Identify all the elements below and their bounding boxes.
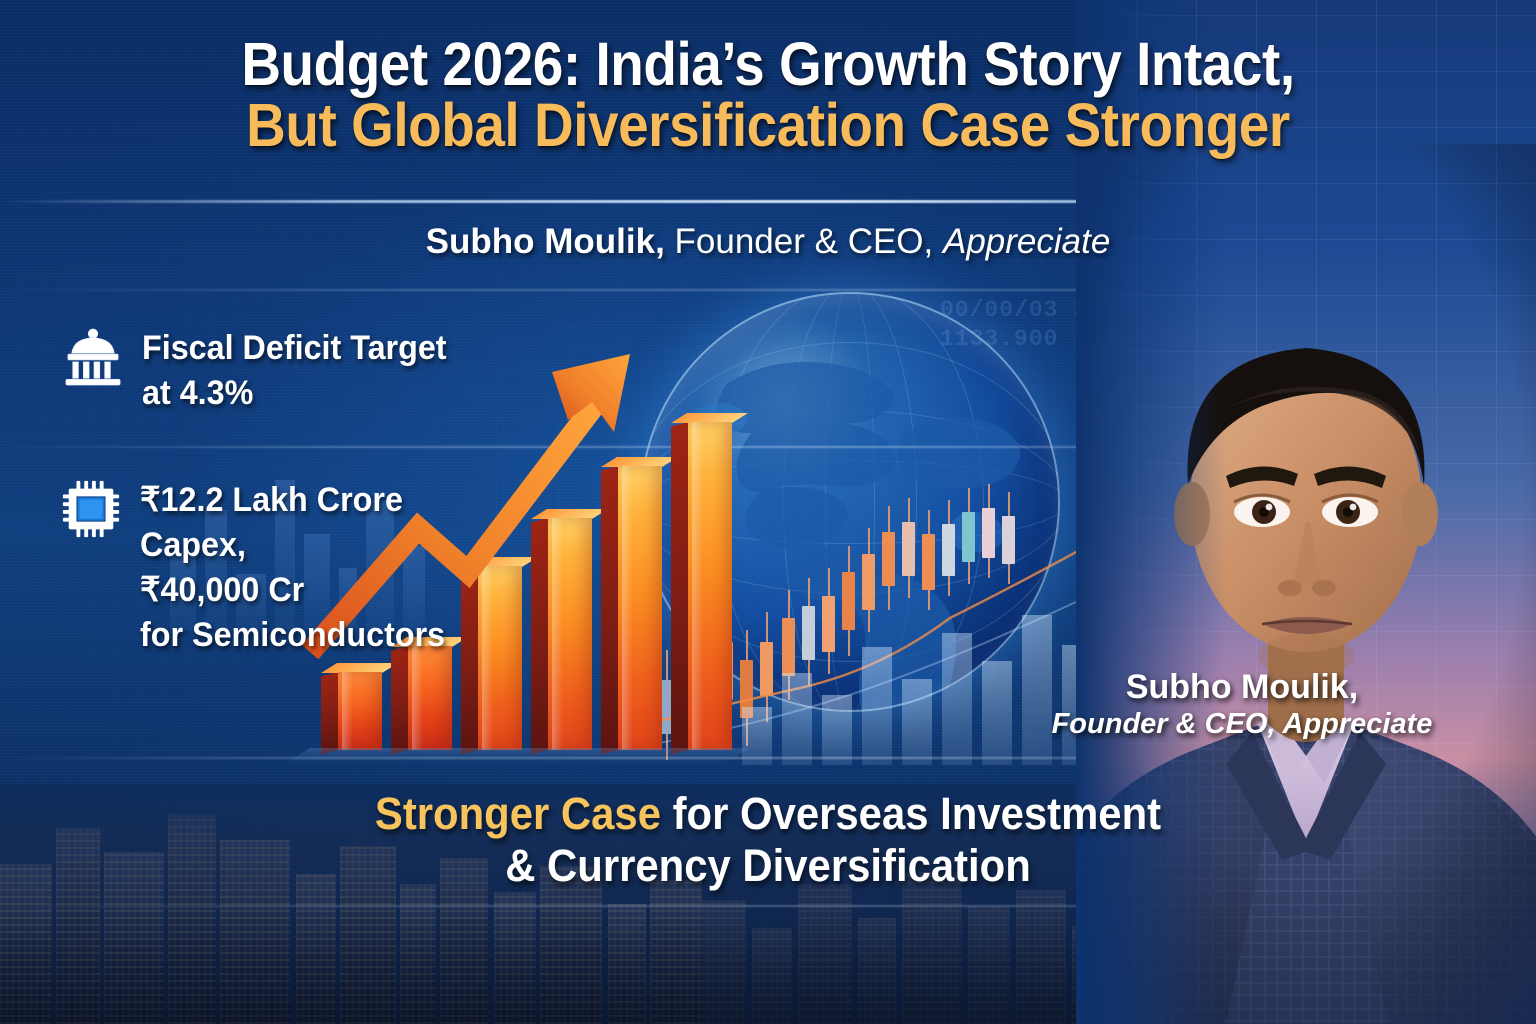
globe-continents (640, 292, 1060, 712)
stat-line: at 4.3% (142, 371, 447, 416)
bar-4 (548, 518, 592, 750)
candle (962, 488, 975, 584)
stat-line: for Semiconductors (140, 613, 445, 658)
speaker-name: Subho Moulik, (1032, 668, 1452, 707)
footer-rest: for Overseas Investment (661, 788, 1161, 839)
byline: Subho Moulik, Founder & CEO, Appreciate (0, 222, 1536, 262)
candle (982, 484, 995, 578)
bar-5 (618, 466, 662, 750)
candle (720, 612, 733, 724)
candle (1002, 492, 1015, 584)
footer-highlight: Stronger Case (375, 788, 661, 839)
bar-2 (408, 646, 452, 750)
page-title: Budget 2026: India’s Growth Story Intact… (0, 34, 1536, 156)
globe-sphere (640, 292, 1060, 712)
globe-meridians (640, 292, 1060, 712)
candle (882, 506, 895, 610)
candle (942, 500, 955, 596)
stat-line: Capex, (140, 523, 445, 568)
candle (842, 546, 855, 656)
ticker-line-1: 00/00/03 388 (940, 296, 1118, 325)
footer-message: Stronger Case for Overseas Investment & … (0, 788, 1536, 892)
candle (922, 510, 935, 610)
candle (782, 590, 795, 700)
stat-line: ₹12.2 Lakh Crore (140, 478, 445, 523)
bar-6 (688, 422, 732, 750)
headline-line-2: But Global Diversification Case Stronger (77, 95, 1459, 156)
stat-line: ₹40,000 Cr (140, 568, 445, 613)
headline-line-1: Budget 2026: India’s Growth Story Intact… (77, 34, 1459, 95)
speaker-role: Founder & CEO, Appreciate (1032, 707, 1452, 742)
globe-graphic (640, 292, 1060, 712)
stat-fiscal-deficit-text: Fiscal Deficit Target at 4.3% (142, 326, 447, 416)
speaker-namecard: Subho Moulik, Founder & CEO, Appreciate (1032, 668, 1452, 742)
candle (740, 630, 753, 746)
ticker-line-2: 1133.900 (940, 325, 1118, 354)
stat-capex-semiconductors: ₹12.2 Lakh Crore Capex, ₹40,000 Cr for S… (60, 478, 461, 658)
infographic-canvas: 00/00/03 388 1133.900 (0, 0, 1536, 1024)
candle (802, 578, 815, 686)
footer-row-1: Stronger Case for Overseas Investment (54, 788, 1482, 840)
candle (902, 498, 915, 598)
stat-capex-text: ₹12.2 Lakh Crore Capex, ₹40,000 Cr for S… (140, 478, 445, 658)
divider-under-byline (0, 289, 1536, 291)
candlestick-chart (660, 430, 1080, 760)
candle (862, 528, 875, 632)
divider-bottom (0, 905, 1536, 907)
divider-above-footer (0, 757, 1536, 759)
byline-name: Subho Moulik, (426, 222, 665, 261)
divider-mid (0, 446, 1536, 448)
candle (822, 568, 835, 674)
bank-icon (62, 326, 124, 388)
bar-3 (478, 566, 522, 750)
byline-org: Appreciate (943, 222, 1110, 261)
ticker-digits: 00/00/03 388 1133.900 (940, 296, 1118, 354)
candle (700, 616, 713, 734)
microchip-icon (60, 478, 122, 540)
candle (760, 612, 773, 722)
trend-line (660, 430, 1080, 760)
footer-row-2: & Currency Diversification (54, 840, 1482, 892)
stat-fiscal-deficit: Fiscal Deficit Target at 4.3% (62, 326, 463, 416)
candle (660, 650, 673, 760)
bar-1 (338, 672, 382, 750)
stat-line: Fiscal Deficit Target (142, 326, 447, 371)
byline-title: Founder & CEO, (665, 222, 943, 261)
divider-top (0, 200, 1536, 203)
candle (680, 630, 693, 750)
